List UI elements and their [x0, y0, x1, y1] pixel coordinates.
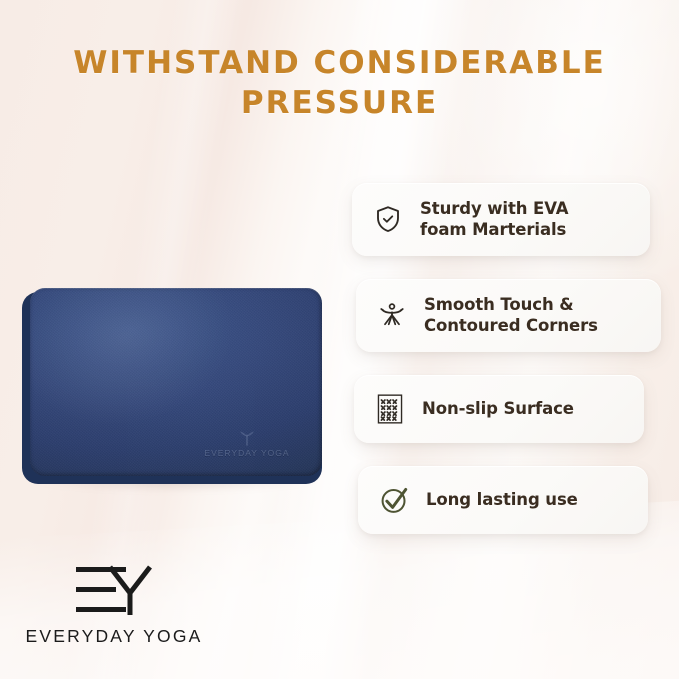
textured-surface-icon [374, 393, 406, 425]
product-emboss-brand-text: EVERYDAY YOGA [186, 448, 308, 458]
circle-check-icon [378, 484, 410, 516]
feature-card-sturdy[interactable]: Sturdy with EVA foam Marterials [352, 183, 650, 256]
shield-check-icon [372, 203, 404, 235]
brand-wordmark: EVERYDAY YOGA [24, 626, 204, 647]
product-image: EVERYDAY YOGA [22, 288, 322, 486]
page-title: WITHSTAND CONSIDERABLE PRESSURE [40, 44, 639, 123]
product-feature-banner: WITHSTAND CONSIDERABLE PRESSURE EVERYDAY… [0, 0, 679, 679]
product-highlight-sheen [30, 288, 258, 453]
brand-logo: EVERYDAY YOGA [24, 560, 204, 647]
feature-label: Non-slip Surface [422, 398, 574, 419]
ey-monogram-icon [66, 560, 162, 620]
feature-card-smooth-touch[interactable]: Smooth Touch & Contoured Corners [356, 279, 661, 352]
feature-card-long-lasting[interactable]: Long lasting use [358, 466, 648, 534]
feature-card-list: Sturdy with EVA foam Marterials Smooth T… [352, 183, 657, 557]
feature-card-non-slip[interactable]: Non-slip Surface [354, 375, 644, 443]
feature-label: Sturdy with EVA foam Marterials [420, 198, 568, 241]
vitruvian-person-icon [376, 299, 408, 331]
product-block-front-face: EVERYDAY YOGA [30, 288, 322, 476]
feature-label: Smooth Touch & Contoured Corners [424, 294, 598, 337]
feature-label: Long lasting use [426, 489, 578, 510]
y-sprout-mark-icon [236, 425, 258, 447]
product-embossed-logo: EVERYDAY YOGA [186, 425, 308, 458]
